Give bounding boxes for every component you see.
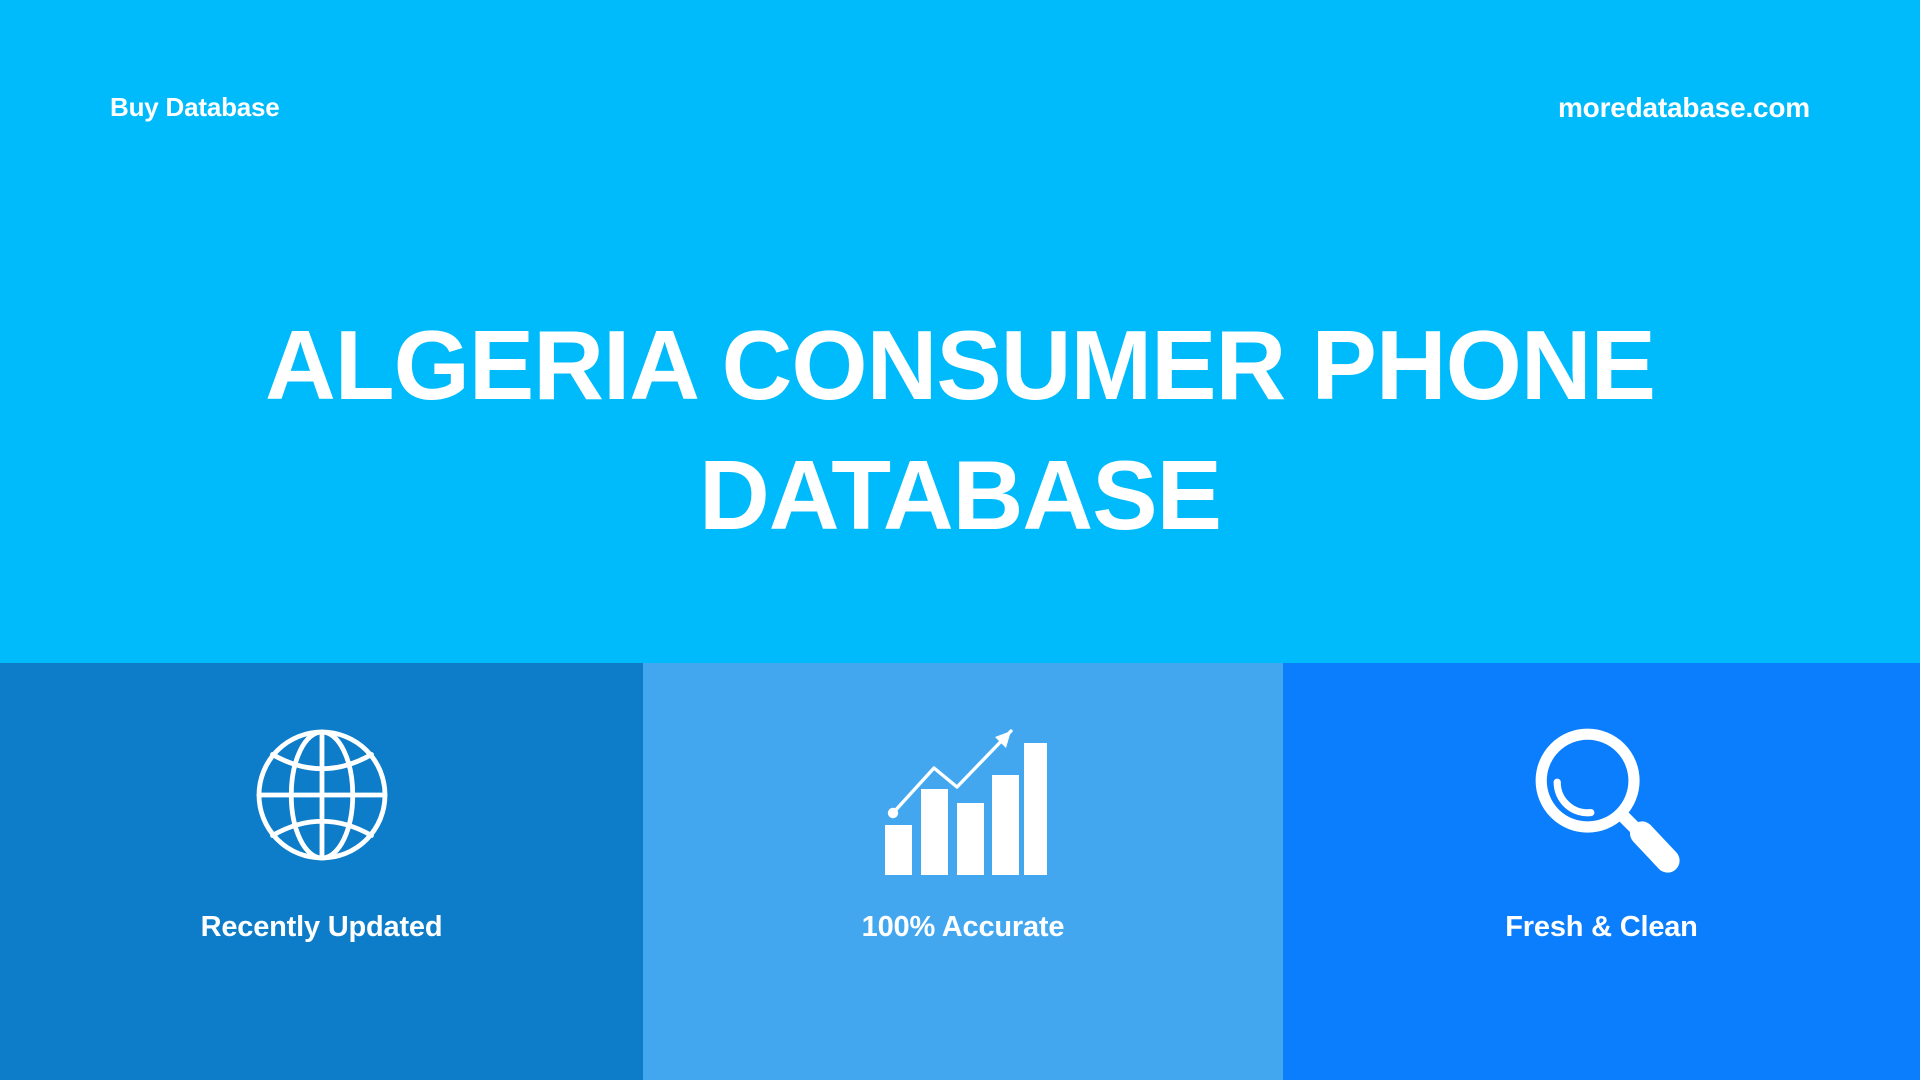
header-bar: Buy Database moredatabase.com [0, 0, 1920, 215]
feature-card-fresh-clean[interactable]: Fresh & Clean [1283, 663, 1920, 1080]
promo-banner: Buy Database moredatabase.com Algeria Co… [0, 0, 1920, 1080]
page-title: Algeria Consumer Phone Database [0, 300, 1920, 561]
bar-chart-growth-icon [879, 715, 1047, 875]
feature-label-fresh-clean: Fresh & Clean [1505, 911, 1697, 944]
feature-card-accurate[interactable]: 100% Accurate [643, 663, 1283, 1080]
feature-label-accurate: 100% Accurate [862, 911, 1065, 944]
buy-database-label[interactable]: Buy Database [110, 92, 280, 123]
feature-strip: Recently Updated [0, 663, 1920, 1080]
hero-section: Buy Database moredatabase.com Algeria Co… [0, 0, 1920, 663]
feature-label-recently-updated: Recently Updated [201, 911, 443, 944]
magnifying-glass-icon [1522, 715, 1682, 875]
feature-card-recently-updated[interactable]: Recently Updated [0, 663, 643, 1080]
site-domain-label[interactable]: moredatabase.com [1558, 92, 1810, 124]
globe-icon [247, 715, 397, 875]
